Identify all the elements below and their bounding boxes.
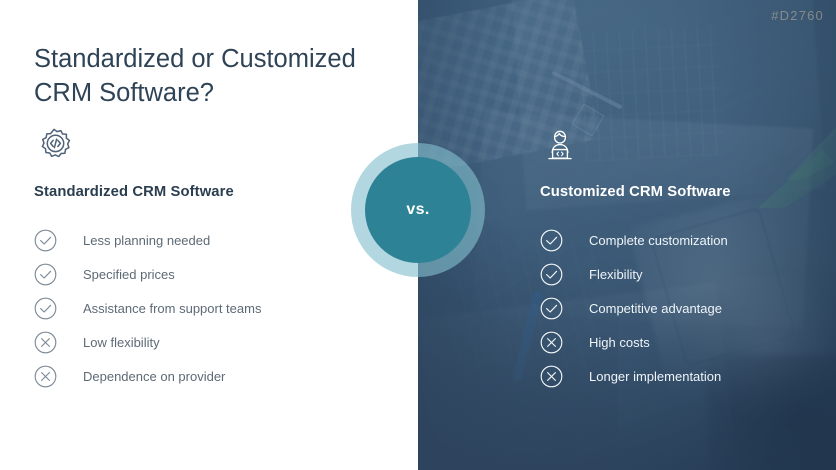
x-circle-icon	[34, 365, 57, 388]
check-circle-icon	[34, 229, 57, 252]
feature-list-customized: Complete customization Flexibility	[540, 223, 830, 393]
list-item-label: Complete customization	[589, 234, 728, 247]
list-item-label: Dependence on provider	[83, 370, 225, 383]
list-item: Longer implementation	[540, 359, 830, 393]
list-item-label: Flexibility	[589, 268, 642, 281]
watermark-code: #D2760	[771, 8, 824, 23]
list-item: Assistance from support teams	[34, 291, 394, 325]
list-item-label: Less planning needed	[83, 234, 210, 247]
gear-code-icon	[34, 126, 74, 166]
list-item-label: Longer implementation	[589, 370, 721, 383]
vs-badge-label: vs.	[365, 157, 471, 263]
list-item-label: Low flexibility	[83, 336, 160, 349]
list-item: Flexibility	[540, 257, 830, 291]
feature-list-standardized: Less planning needed Specified prices	[34, 223, 394, 393]
column-standardized: Standardized CRM Software Less planning …	[34, 126, 394, 393]
list-item-label: Specified prices	[83, 268, 175, 281]
check-circle-icon	[34, 297, 57, 320]
list-item-label: Competitive advantage	[589, 302, 722, 315]
list-item-label: High costs	[589, 336, 650, 349]
x-circle-icon	[34, 331, 57, 354]
list-item: Competitive advantage	[540, 291, 830, 325]
list-item: Dependence on provider	[34, 359, 394, 393]
list-item: Specified prices	[34, 257, 394, 291]
developer-laptop-icon	[540, 126, 580, 166]
column-heading-customized: Customized CRM Software	[540, 184, 830, 200]
list-item: Complete customization	[540, 223, 830, 257]
column-customized: Customized CRM Software Complete customi…	[540, 126, 830, 393]
list-item-label: Assistance from support teams	[83, 302, 261, 315]
check-circle-icon	[540, 297, 563, 320]
check-circle-icon	[540, 229, 563, 252]
check-circle-icon	[540, 263, 563, 286]
list-item: Less planning needed	[34, 223, 394, 257]
list-item: High costs	[540, 325, 830, 359]
check-circle-icon	[34, 263, 57, 286]
slide-canvas: #D2760 Standardized or Customized CRM So…	[0, 0, 836, 470]
x-circle-icon	[540, 365, 563, 388]
column-heading-standardized: Standardized CRM Software	[34, 184, 394, 200]
x-circle-icon	[540, 331, 563, 354]
list-item: Low flexibility	[34, 325, 394, 359]
page-title: Standardized or Customized CRM Software?	[34, 43, 404, 111]
